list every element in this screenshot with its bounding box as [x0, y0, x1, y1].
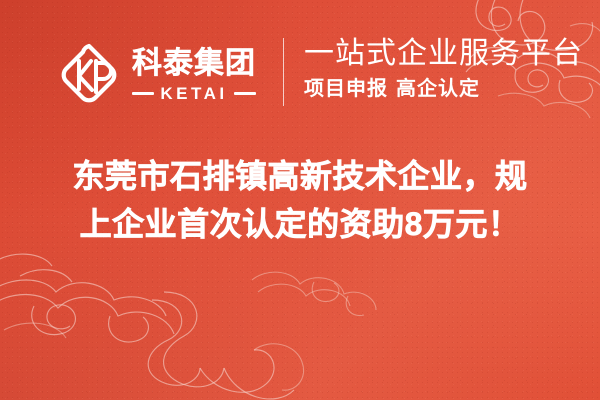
ketai-diamond-kp-monogram-icon [56, 42, 122, 108]
banner-header: 科泰集团 KETAI 一站式企业服务平台 项目申报 高企认定 [0, 0, 600, 140]
headline-line-2: 上企业首次认定的资助8万元！ [0, 200, 600, 248]
header-divider [283, 38, 284, 106]
brand-tagline: 一站式企业服务平台 项目申报 高企认定 [304, 36, 583, 100]
headline-block: 东莞市石排镇高新技术企业，规 上企业首次认定的资助8万元！ [0, 152, 600, 248]
tagline-primary: 一站式企业服务平台 [304, 36, 583, 72]
brand-wordmark: 科泰集团 KETAI [132, 49, 256, 102]
tagline-secondary: 项目申报 高企认定 [304, 76, 583, 100]
promo-banner: 科泰集团 KETAI 一站式企业服务平台 项目申报 高企认定 东莞市石排镇高新技… [0, 0, 600, 400]
brand-logo[interactable]: 科泰集团 KETAI [56, 42, 256, 108]
brand-name-en-row: KETAI [132, 85, 256, 102]
wordmark-dash-right [234, 92, 256, 95]
headline-line-1: 东莞市石排镇高新技术企业，规 [0, 152, 600, 200]
brand-name-cn: 科泰集团 [132, 49, 256, 79]
wordmark-dash-left [132, 92, 154, 95]
brand-name-en: KETAI [160, 85, 227, 102]
